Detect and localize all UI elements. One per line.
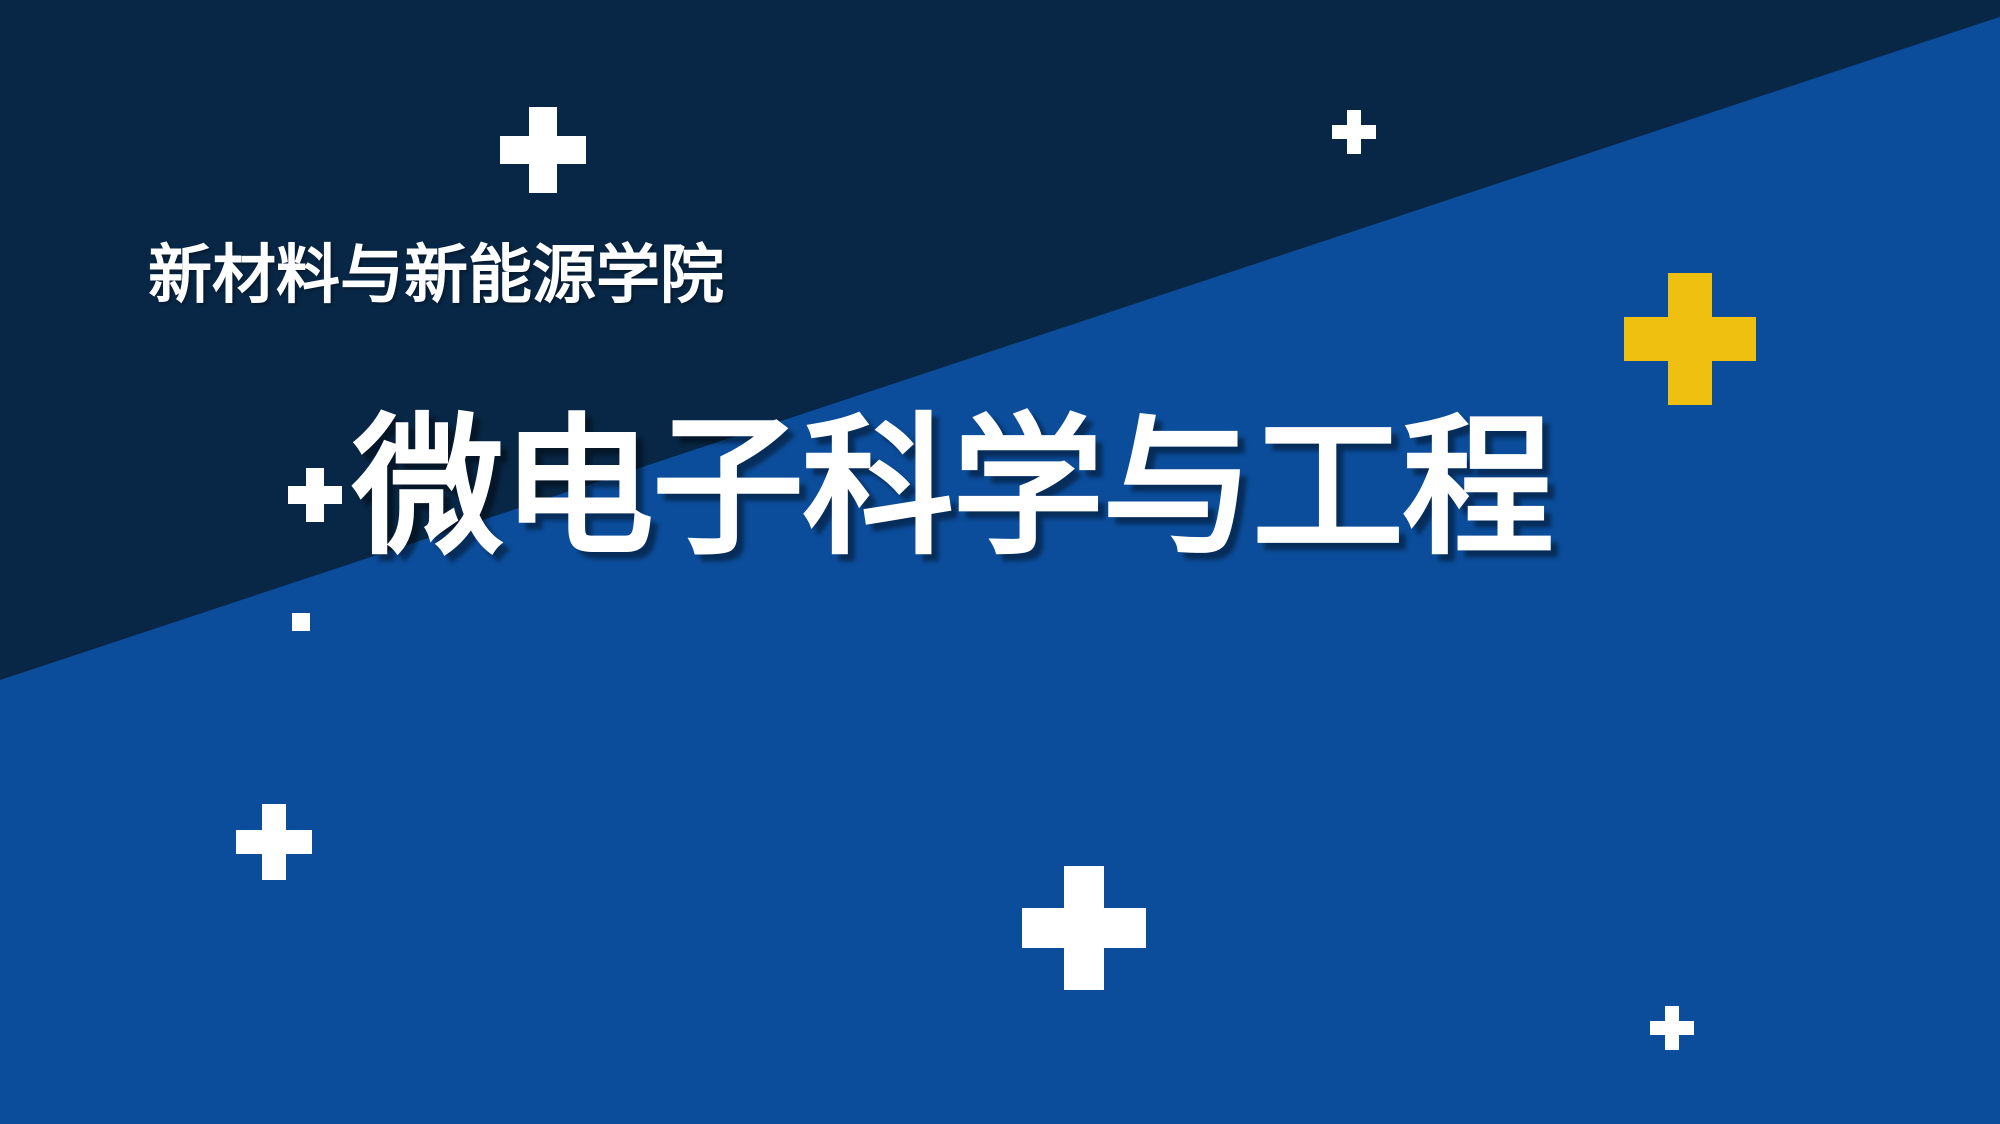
plus-icon-6-vertical-bar [1064, 866, 1104, 990]
plus-icon-5 [236, 804, 312, 880]
plus-icon-3-vertical-bar [1668, 273, 1712, 405]
plus-icon-6 [1022, 866, 1146, 990]
plus-icon-1 [500, 107, 586, 193]
plus-icon-4 [288, 468, 342, 522]
plus-icon-4-vertical-bar [306, 468, 324, 522]
plus-icon-7 [1650, 1006, 1694, 1050]
plus-icon-3 [1624, 273, 1756, 405]
slide-canvas: 新材料与新能源学院 微电子科学与工程 [0, 0, 2000, 1124]
plus-icon-5-vertical-bar [262, 804, 286, 880]
plus-icon-2-vertical-bar [1347, 110, 1361, 154]
page-title: 微电子科学与工程 [352, 408, 1552, 568]
department-name: 新材料与新能源学院 [148, 242, 724, 311]
square-dot [292, 613, 310, 631]
plus-icon-1-vertical-bar [529, 107, 557, 193]
plus-icon-7-vertical-bar [1665, 1006, 1679, 1050]
plus-icon-2 [1332, 110, 1376, 154]
